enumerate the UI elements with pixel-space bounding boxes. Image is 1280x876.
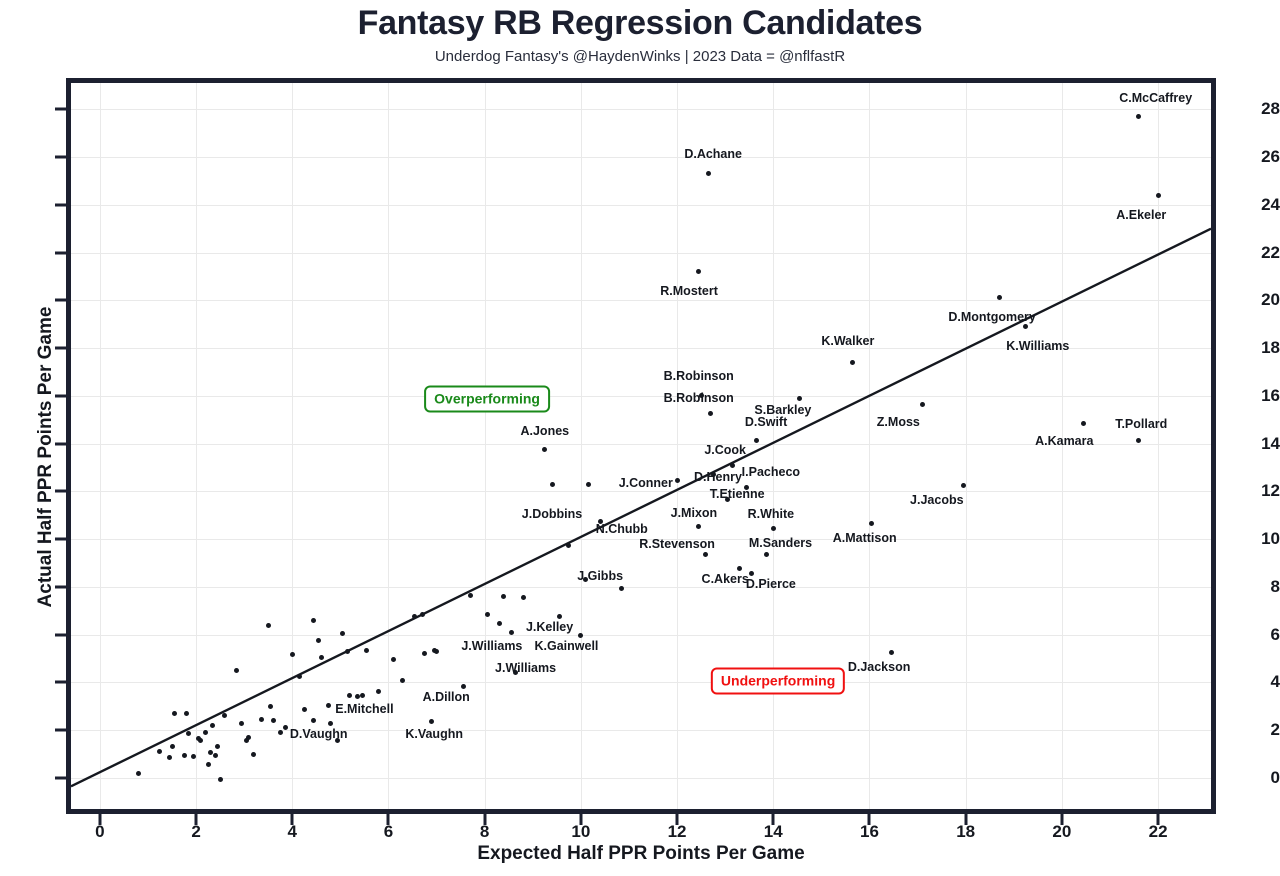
y-tick-mark (55, 156, 66, 159)
gridline-horizontal (71, 778, 1211, 779)
y-tick-mark (55, 347, 66, 350)
scatter-point[interactable] (218, 777, 223, 782)
point-label: J.Kelley (526, 620, 573, 634)
scatter-point-c-mccaffrey[interactable] (1136, 114, 1141, 119)
scatter-point-d-achane[interactable] (706, 171, 711, 176)
scatter-point[interactable] (566, 543, 571, 548)
y-tick-mark (55, 776, 66, 779)
plot-area: C.McCaffreyA.EkelerD.AchaneR.MostertD.Mo… (66, 78, 1216, 814)
scatter-point-a-mattison[interactable] (869, 521, 874, 526)
scatter-point[interactable] (182, 753, 187, 758)
scatter-point-k-vaughn[interactable] (429, 719, 434, 724)
point-label: D.Henry (694, 470, 742, 484)
gridline-vertical (388, 83, 389, 809)
scatter-point[interactable] (400, 678, 405, 683)
scatter-point[interactable] (347, 693, 352, 698)
x-tick-mark (387, 814, 390, 825)
gridline-horizontal (71, 396, 1211, 397)
y-tick-label: 16 (1234, 386, 1280, 406)
y-tick-mark (55, 681, 66, 684)
point-label: N.Chubb (596, 522, 648, 536)
chart-figure: Fantasy RB Regression Candidates Underdo… (0, 0, 1280, 876)
point-label: E.Mitchell (335, 702, 393, 716)
point-label: R.White (748, 507, 795, 521)
scatter-point[interactable] (268, 704, 273, 709)
scatter-point[interactable] (302, 707, 307, 712)
scatter-point-d-vaughn[interactable] (311, 718, 316, 723)
point-label: K.Walker (821, 334, 874, 348)
y-tick-mark (55, 108, 66, 111)
scatter-point[interactable] (136, 771, 141, 776)
scatter-point[interactable] (550, 482, 555, 487)
point-label: T.Etienne (710, 487, 765, 501)
scatter-point[interactable] (222, 713, 227, 718)
x-tick-mark (964, 814, 967, 825)
y-tick-label: 28 (1234, 99, 1280, 119)
point-label: I.Pacheco (742, 465, 800, 479)
gridline-vertical (677, 83, 678, 809)
x-tick-label: 18 (956, 822, 975, 842)
y-tick-label: 22 (1234, 243, 1280, 263)
y-tick-label: 24 (1234, 195, 1280, 215)
scatter-point-k-walker[interactable] (850, 360, 855, 365)
point-label: B.Robinson (664, 391, 734, 405)
scatter-point-r-white[interactable] (771, 526, 776, 531)
y-tick-mark (55, 633, 66, 636)
x-tick-mark (98, 814, 101, 825)
gridline-vertical (773, 83, 774, 809)
scatter-point[interactable] (210, 723, 215, 728)
x-tick-label: 0 (95, 822, 104, 842)
x-tick-label: 6 (384, 822, 393, 842)
scatter-point[interactable] (170, 744, 175, 749)
x-tick-label: 14 (764, 822, 783, 842)
scatter-point[interactable] (172, 711, 177, 716)
y-tick-label: 0 (1234, 768, 1280, 788)
scatter-point[interactable] (184, 711, 189, 716)
x-tick-mark (579, 814, 582, 825)
scatter-point[interactable] (283, 725, 288, 730)
point-label: A.Ekeler (1116, 208, 1166, 222)
scatter-point-e-mitchell[interactable] (355, 694, 360, 699)
gridline-horizontal (71, 730, 1211, 731)
scatter-point[interactable] (157, 749, 162, 754)
scatter-point-j-mixon[interactable] (696, 524, 701, 529)
scatter-point-j-cook[interactable] (730, 463, 735, 468)
annotation-overperforming: Overperforming (424, 386, 550, 413)
point-label: R.Stevenson (639, 537, 715, 551)
scatter-point[interactable] (290, 652, 295, 657)
x-tick-mark (195, 814, 198, 825)
point-label: A.Jones (520, 424, 569, 438)
x-tick-label: 12 (668, 822, 687, 842)
point-label: J.Gibbs (577, 569, 623, 583)
y-tick-label: 8 (1234, 577, 1280, 597)
scatter-point[interactable] (213, 753, 218, 758)
y-tick-label: 6 (1234, 625, 1280, 645)
x-tick-mark (676, 814, 679, 825)
scatter-point-b-robinson[interactable] (708, 411, 713, 416)
scatter-point[interactable] (239, 721, 244, 726)
point-label: B.Robinson (664, 369, 734, 383)
point-label: C.Akers (702, 572, 749, 586)
y-tick-label: 26 (1234, 147, 1280, 167)
y-tick-label: 4 (1234, 672, 1280, 692)
scatter-point[interactable] (278, 730, 283, 735)
gridline-vertical (100, 83, 101, 809)
point-label: K.Williams (1006, 339, 1069, 353)
y-tick-mark (55, 729, 66, 732)
y-tick-label: 18 (1234, 338, 1280, 358)
scatter-point[interactable] (345, 649, 350, 654)
scatter-point[interactable] (198, 738, 203, 743)
x-tick-mark (1157, 814, 1160, 825)
chart-title: Fantasy RB Regression Candidates (0, 4, 1280, 43)
scatter-point-z-moss[interactable] (920, 402, 925, 407)
y-tick-label: 12 (1234, 481, 1280, 501)
x-tick-label: 4 (288, 822, 297, 842)
gridline-vertical (869, 83, 870, 809)
scatter-point-j-gibbs[interactable] (619, 586, 624, 591)
scatter-point-d-jackson[interactable] (889, 650, 894, 655)
point-label: J.Jacobs (910, 493, 964, 507)
point-label: A.Mattison (833, 531, 897, 545)
y-tick-mark (55, 585, 66, 588)
point-label: Z.Moss (877, 415, 920, 429)
y-tick-mark (55, 299, 66, 302)
point-label: J.Cook (704, 443, 746, 457)
scatter-point[interactable] (422, 651, 427, 656)
scatter-point-r-mostert[interactable] (696, 269, 701, 274)
scatter-point-j-dobbins[interactable] (586, 482, 591, 487)
scatter-point[interactable] (206, 762, 211, 767)
point-label: A.Kamara (1035, 434, 1093, 448)
gridline-vertical (292, 83, 293, 809)
x-tick-label: 16 (860, 822, 879, 842)
gridline-horizontal (71, 635, 1211, 636)
scatter-point[interactable] (251, 752, 256, 757)
gridline-horizontal (71, 682, 1211, 683)
scatter-point-s-barkley[interactable] (797, 396, 802, 401)
scatter-point[interactable] (167, 755, 172, 760)
scatter-point-a-ekeler[interactable] (1156, 193, 1161, 198)
x-tick-mark (772, 814, 775, 825)
scatter-point[interactable] (485, 612, 490, 617)
scatter-point-j-jacobs[interactable] (961, 483, 966, 488)
scatter-point[interactable] (311, 618, 316, 623)
x-tick-label: 8 (480, 822, 489, 842)
y-tick-mark (55, 490, 66, 493)
scatter-point[interactable] (319, 655, 324, 660)
x-tick-mark (868, 814, 871, 825)
scatter-point[interactable] (360, 693, 365, 698)
gridline-horizontal (71, 491, 1211, 492)
scatter-point[interactable] (259, 717, 264, 722)
scatter-point-r-stevenson[interactable] (703, 552, 708, 557)
chart-subtitle: Underdog Fantasy's @HaydenWinks | 2023 D… (0, 48, 1280, 65)
x-tick-mark (1060, 814, 1063, 825)
point-label: D.Achane (684, 147, 742, 161)
y-tick-label: 14 (1234, 434, 1280, 454)
scatter-point[interactable] (234, 668, 239, 673)
scatter-point[interactable] (215, 744, 220, 749)
scatter-point-c-akers[interactable] (737, 566, 742, 571)
y-tick-label: 10 (1234, 529, 1280, 549)
point-label: J.Mixon (671, 506, 718, 520)
y-tick-label: 20 (1234, 290, 1280, 310)
scatter-point[interactable] (271, 718, 276, 723)
scatter-point[interactable] (246, 735, 251, 740)
gridline-horizontal (71, 205, 1211, 206)
scatter-point-a-kamara[interactable] (1081, 421, 1086, 426)
scatter-point[interactable] (434, 649, 439, 654)
scatter-point-k-williams[interactable] (1023, 324, 1028, 329)
point-label: D.Vaughn (290, 727, 348, 741)
x-tick-label: 10 (571, 822, 590, 842)
point-label: K.Gainwell (534, 639, 598, 653)
scatter-point[interactable] (364, 648, 369, 653)
x-tick-mark (483, 814, 486, 825)
gridline-vertical (581, 83, 582, 809)
plot-inner: C.McCaffreyA.EkelerD.AchaneR.MostertD.Mo… (71, 83, 1211, 809)
y-tick-mark (55, 442, 66, 445)
y-tick-mark (55, 538, 66, 541)
scatter-point-j-williams[interactable] (497, 621, 502, 626)
scatter-point[interactable] (412, 614, 417, 619)
x-tick-mark (291, 814, 294, 825)
gridline-vertical (485, 83, 486, 809)
y-tick-mark (55, 203, 66, 206)
x-tick-label: 2 (191, 822, 200, 842)
scatter-point-k-gainwell[interactable] (578, 633, 583, 638)
scatter-point-m-sanders[interactable] (764, 552, 769, 557)
y-tick-mark (55, 394, 66, 397)
scatter-point[interactable] (203, 730, 208, 735)
scatter-point[interactable] (266, 623, 271, 628)
point-label: K.Vaughn (405, 727, 463, 741)
x-tick-label: 22 (1149, 822, 1168, 842)
gridline-horizontal (71, 157, 1211, 158)
point-label: J.Dobbins (522, 507, 582, 521)
point-label: D.Pierce (746, 577, 796, 591)
scatter-point-j-kelley[interactable] (557, 614, 562, 619)
gridline-horizontal (71, 109, 1211, 110)
scatter-point[interactable] (501, 594, 506, 599)
scatter-point[interactable] (521, 595, 526, 600)
point-label: D.Jackson (848, 660, 911, 674)
scatter-point[interactable] (420, 612, 425, 617)
y-axis-title: Actual Half PPR Points Per Game (35, 137, 57, 777)
scatter-point[interactable] (391, 657, 396, 662)
gridline-horizontal (71, 587, 1211, 588)
scatter-point-a-dillon[interactable] (461, 684, 466, 689)
annotation-underperforming: Underperforming (711, 668, 845, 695)
scatter-point-j-conner[interactable] (675, 478, 680, 483)
point-label: M.Sanders (749, 536, 812, 550)
point-label: R.Mostert (660, 284, 718, 298)
gridline-horizontal (71, 253, 1211, 254)
x-axis-title: Expected Half PPR Points Per Game (66, 843, 1216, 865)
point-label: J.Williams (495, 661, 556, 675)
point-label: D.Swift (745, 415, 787, 429)
scatter-point-d-swift[interactable] (754, 438, 759, 443)
x-tick-label: 20 (1052, 822, 1071, 842)
point-label: C.McCaffrey (1119, 91, 1192, 105)
point-label: T.Pollard (1115, 417, 1167, 431)
y-tick-label: 2 (1234, 720, 1280, 740)
scatter-point-t-pollard[interactable] (1136, 438, 1141, 443)
scatter-point[interactable] (326, 703, 331, 708)
scatter-point[interactable] (509, 630, 514, 635)
scatter-point-a-jones[interactable] (542, 447, 547, 452)
point-label: A.Dillon (423, 690, 470, 704)
scatter-point[interactable] (186, 731, 191, 736)
gridline-vertical (196, 83, 197, 809)
scatter-point[interactable] (316, 638, 321, 643)
scatter-point[interactable] (297, 674, 302, 679)
gridline-vertical (966, 83, 967, 809)
point-label: D.Montgomery (948, 310, 1036, 324)
y-tick-mark (55, 251, 66, 254)
gridline-vertical (1158, 83, 1159, 809)
point-label: J.Williams (461, 639, 522, 653)
scatter-point[interactable] (328, 721, 333, 726)
point-label: J.Conner (619, 476, 673, 490)
gridline-horizontal (71, 300, 1211, 301)
scatter-point[interactable] (376, 689, 381, 694)
scatter-point[interactable] (468, 593, 473, 598)
